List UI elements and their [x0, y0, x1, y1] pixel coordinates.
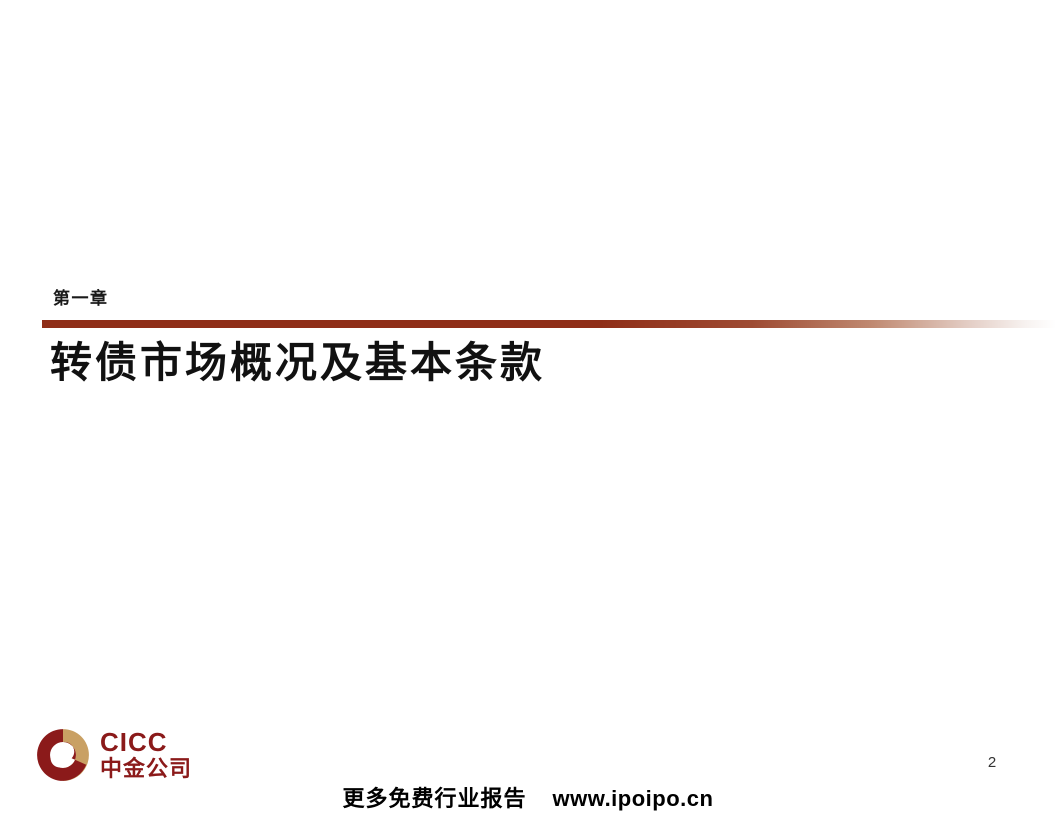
- cicc-circular-mark-icon: [36, 728, 90, 782]
- promo-banner-text: 更多免费行业报告: [343, 788, 527, 810]
- cicc-logo-latin: CICC: [100, 729, 192, 756]
- section-divider-rule: [42, 320, 1056, 328]
- promo-banner: 更多免费行业报告 www.ipoipo.cn: [0, 784, 1056, 814]
- cicc-wordmark: CICC 中金公司: [100, 729, 192, 781]
- promo-banner-url[interactable]: www.ipoipo.cn: [553, 788, 714, 810]
- slide-canvas: 第一章 转债市场概况及基本条款 CICC 中金公司 2 更多免费行业报告 www…: [0, 0, 1056, 816]
- cicc-logo: CICC 中金公司: [36, 726, 206, 784]
- page-number: 2: [980, 755, 1004, 770]
- chapter-label: 第一章: [53, 290, 109, 307]
- section-title: 转债市场概况及基本条款: [50, 340, 545, 388]
- cicc-logo-chinese: 中金公司: [100, 757, 192, 781]
